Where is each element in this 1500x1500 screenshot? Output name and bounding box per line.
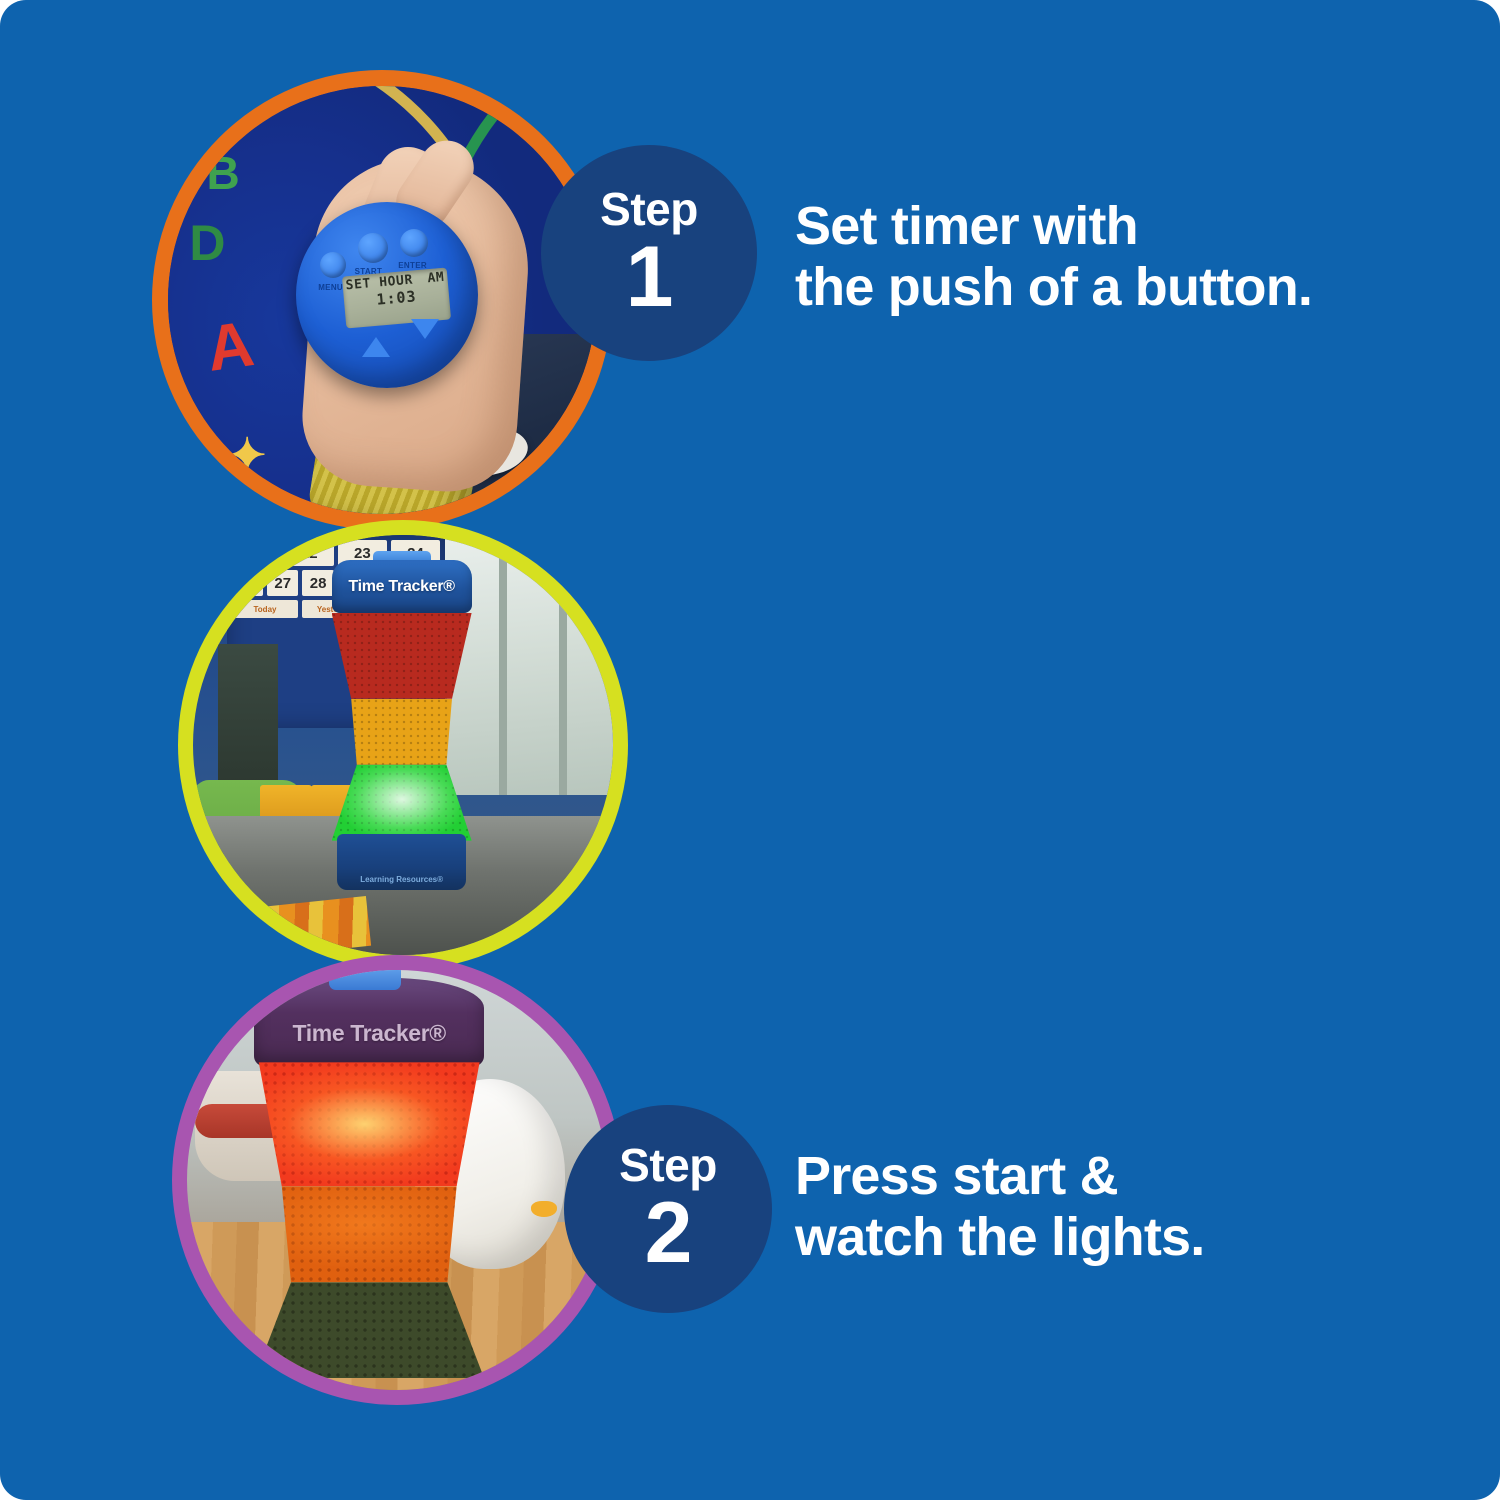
calendar-cell: 22 — [285, 540, 334, 566]
menu-button[interactable] — [320, 252, 346, 278]
step-block-1: B D A ✦ MENU START ENTER — [0, 0, 1500, 500]
step-badge-1: Step 1 — [541, 145, 757, 361]
lcd-ampm-text: AM — [427, 270, 445, 286]
calendar-cell: 28 — [302, 570, 333, 596]
pocket-timer-device: MENU START ENTER SET HOUR AM 1:03 — [296, 202, 478, 388]
tt3-red-segment — [254, 1062, 484, 1186]
rug-letter-a: A — [202, 306, 258, 386]
step-2-headline: Press start & watch the lights. — [795, 1146, 1455, 1268]
tt2-amber-segment — [332, 699, 472, 765]
tt3-dark-segment — [254, 1282, 484, 1378]
menu-button-label: MENU — [318, 283, 343, 292]
down-arrow-button[interactable] — [411, 319, 439, 339]
calendar-cell: 21 — [232, 540, 281, 566]
calendar-label: Today — [232, 600, 299, 618]
tt2-brand-label: Time Tracker® — [348, 578, 454, 596]
photo-2-image: 21 22 23 24 26 27 28 29 30 31 Today — [193, 535, 613, 955]
tt3-cap: Time Tracker® — [254, 978, 484, 1066]
tt2-maker-label: Learning Resources® — [360, 875, 443, 884]
up-arrow-button[interactable] — [362, 337, 390, 357]
step-1-headline: Set timer with the push of a button. — [795, 196, 1455, 318]
tt2-base: Learning Resources® — [337, 834, 466, 890]
calendar-cell: 27 — [267, 570, 298, 596]
start-button[interactable] — [358, 233, 388, 263]
photo-circle-1: B D A ✦ MENU START ENTER — [152, 70, 612, 530]
window-frame-1 — [499, 535, 507, 795]
rug-letter-b: B — [207, 146, 240, 200]
photo-3-image: Time Tracker® — [187, 970, 607, 1390]
window-frame-2 — [559, 535, 567, 795]
tt3-amber-segment — [254, 1186, 484, 1282]
infographic-canvas: B D A ✦ MENU START ENTER — [0, 0, 1500, 1500]
photo-circle-2: 21 22 23 24 26 27 28 29 30 31 Today — [178, 520, 628, 970]
tt2-red-segment — [332, 613, 472, 699]
step-badge-1-word: Step — [600, 186, 698, 232]
tt3-brand-label: Time Tracker® — [293, 1020, 446, 1047]
tt2-green-segment — [332, 765, 472, 841]
step-badge-2-word: Step — [619, 1142, 717, 1188]
step-block-2: 21 22 23 24 26 27 28 29 30 31 Today — [0, 490, 1500, 970]
enter-button[interactable] — [400, 229, 428, 257]
time-tracker-device-2: Time Tracker® Learning Resources® — [332, 560, 472, 890]
photo-1-image: B D A ✦ MENU START ENTER — [168, 86, 596, 514]
time-tracker-device-3: Time Tracker® — [254, 978, 484, 1378]
rug-letter-d: D — [189, 214, 225, 272]
step-badge-2: Step 2 — [564, 1105, 772, 1313]
lcd-time-text: 1:03 — [375, 288, 417, 309]
step-badge-2-number: 2 — [645, 1190, 692, 1276]
calendar-cell: 26 — [232, 570, 263, 596]
photo-circle-3: Time Tracker® — [172, 955, 622, 1405]
toy-beak — [531, 1201, 557, 1217]
rug-splash: ✦ — [228, 428, 267, 482]
tt3-top-knob[interactable] — [329, 970, 401, 990]
tt2-cap: Time Tracker® — [332, 560, 472, 613]
step-badge-1-number: 1 — [626, 234, 673, 320]
